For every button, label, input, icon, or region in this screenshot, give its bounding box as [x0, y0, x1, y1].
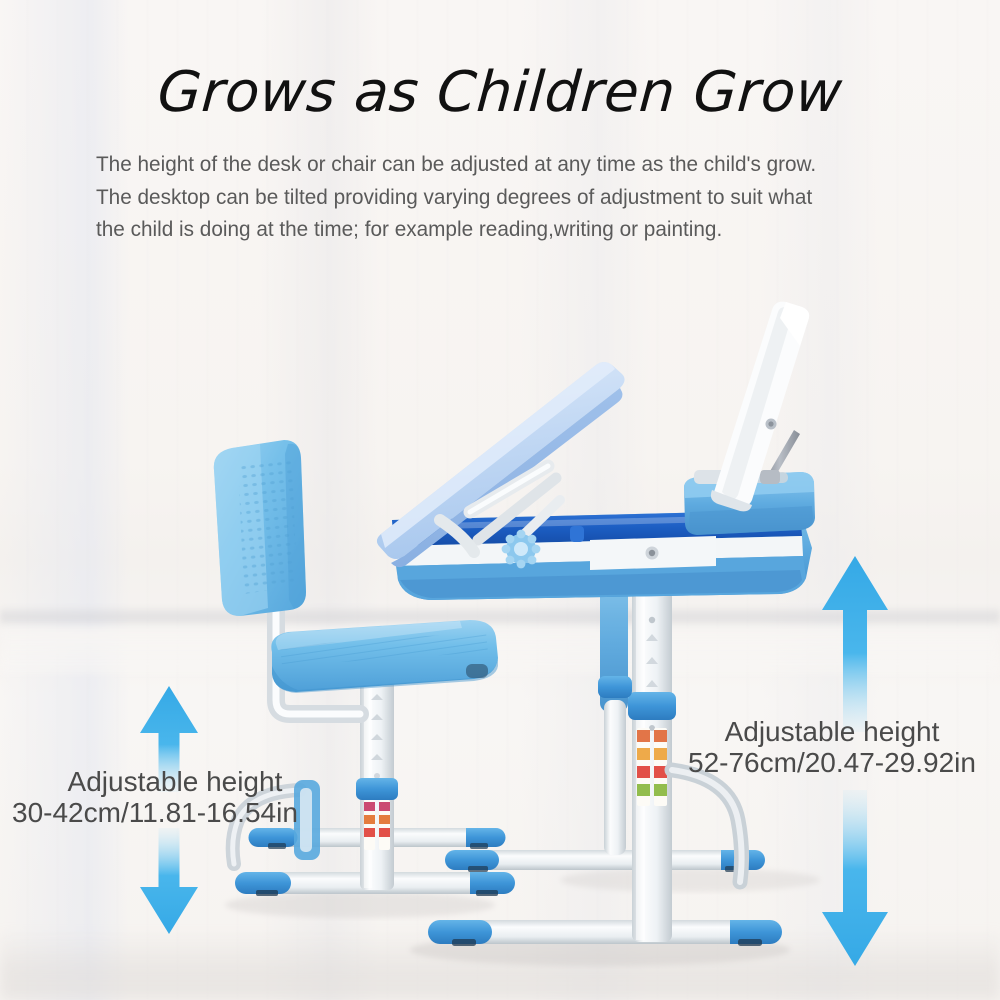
desk-rear-leg — [445, 850, 765, 872]
description-paragraph: The height of the desk or chair can be a… — [96, 148, 916, 246]
desk-height-post — [628, 550, 676, 942]
chair-adjustable-height-annotation: Adjustable height 30-42cm/11.81-16.54in — [12, 766, 298, 829]
chair-annotation-range: 30-42cm/11.81-16.54in — [12, 797, 298, 828]
infographic-canvas: Grows as Children Grow The height of the… — [0, 0, 1000, 1000]
chair-seat — [271, 620, 498, 693]
page-title: Grows as Children Grow — [0, 64, 1000, 123]
desk-annotation-range: 52-76cm/20.47-29.92in — [688, 747, 976, 778]
chair-height-post — [356, 665, 398, 890]
desk-front-base — [428, 920, 782, 946]
desk-annotation-label: Adjustable height — [688, 716, 976, 747]
desk-height-clamp — [628, 692, 676, 720]
description-line-3: the child is doing at the time; for exam… — [96, 213, 916, 246]
desk-adjustable-height-annotation: Adjustable height 52-76cm/20.47-29.92in — [688, 716, 976, 779]
desk-rear-upright — [598, 582, 632, 855]
desk-underrail — [590, 536, 716, 570]
description-line-2: The desktop can be tilted providing vary… — [96, 181, 916, 214]
chair-backrest — [214, 440, 306, 616]
chair-height-clamp — [356, 778, 398, 800]
description-line-1: The height of the desk or chair can be a… — [96, 148, 916, 181]
chair-annotation-label: Adjustable height — [12, 766, 298, 797]
desk-rail-nub — [570, 526, 584, 542]
